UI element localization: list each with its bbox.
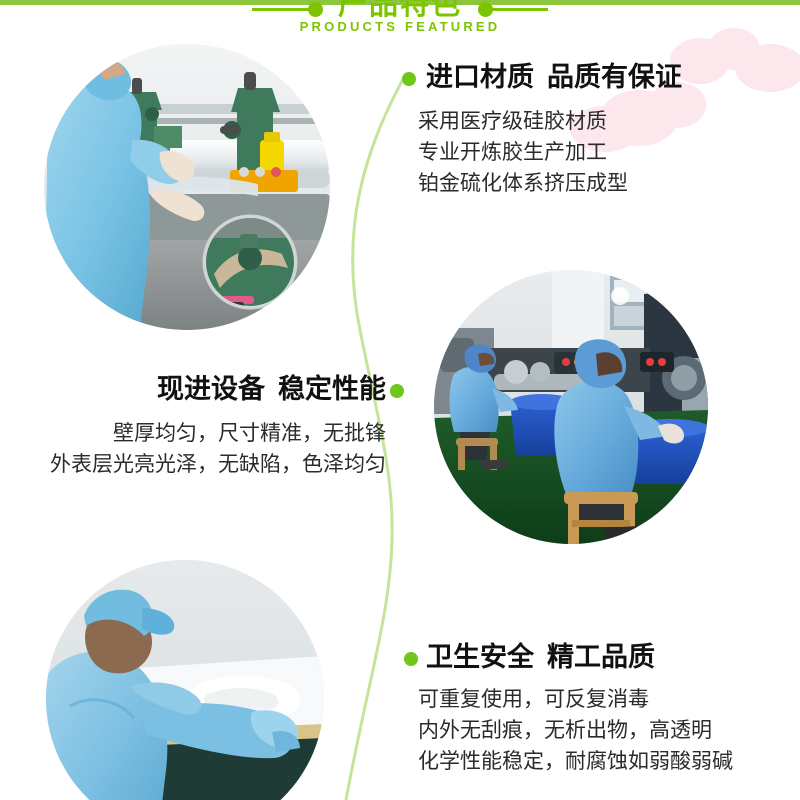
section-hygiene-bullet bbox=[404, 652, 418, 666]
section-hygiene-line-2: 内外无刮痕，无析出物，高透明 bbox=[418, 715, 792, 746]
section-hygiene-heading-part2: 精工品质 bbox=[547, 642, 655, 672]
section-material-bullet bbox=[402, 72, 416, 86]
section-material-line-2: 专业开炼胶生产加工 bbox=[418, 137, 790, 168]
section-equipment-heading-part1: 现进设备 bbox=[157, 374, 265, 404]
section-hygiene: 卫生安全精工品质 可重复使用，可反复消毒 内外无刮痕，无析出物，高透明 化学性能… bbox=[400, 640, 792, 777]
section-equipment-line-2: 外表层光亮光泽，无缺陷，色泽均匀 bbox=[20, 449, 386, 480]
section-equipment: 现进设备稳定性能 壁厚均匀，尺寸精准，无批锋 外表层光亮光泽，无缺陷，色泽均匀 bbox=[20, 372, 386, 480]
section-hygiene-heading: 卫生安全精工品质 bbox=[426, 640, 792, 674]
photo-inspection-table bbox=[46, 560, 324, 800]
section-equipment-line-1: 壁厚均匀，尺寸精准，无批锋 bbox=[20, 418, 386, 449]
page-banner: 产品特色 PRODUCTS FEATURED bbox=[0, 0, 800, 46]
section-hygiene-line-1: 可重复使用，可反复消毒 bbox=[418, 684, 792, 715]
section-material-line-3: 铂金硫化体系挤压成型 bbox=[418, 168, 790, 199]
section-material: 进口材质品质有保证 采用医疗级硅胶材质 专业开炼胶生产加工 铂金硫化体系挤压成型 bbox=[400, 60, 790, 199]
section-hygiene-heading-part1: 卫生安全 bbox=[426, 642, 534, 672]
section-material-heading: 进口材质品质有保证 bbox=[426, 60, 790, 94]
page-title-cn: 产品特色 bbox=[0, 0, 800, 20]
section-equipment-heading: 现进设备稳定性能 bbox=[20, 372, 386, 406]
page-title-en: PRODUCTS FEATURED bbox=[0, 19, 800, 34]
photo-extrusion-line bbox=[434, 270, 708, 544]
section-material-heading-part2: 品质有保证 bbox=[547, 62, 682, 92]
section-material-line-1: 采用医疗级硅胶材质 bbox=[418, 106, 790, 137]
photo-mixing-mill bbox=[44, 44, 330, 330]
product-features-page: 产品特色 PRODUCTS FEATURED bbox=[0, 0, 800, 800]
section-material-heading-part1: 进口材质 bbox=[426, 62, 534, 92]
section-hygiene-line-3: 化学性能稳定，耐腐蚀如弱酸弱碱 bbox=[418, 746, 792, 777]
section-equipment-heading-part2: 稳定性能 bbox=[278, 374, 386, 404]
section-equipment-bullet bbox=[390, 384, 404, 398]
